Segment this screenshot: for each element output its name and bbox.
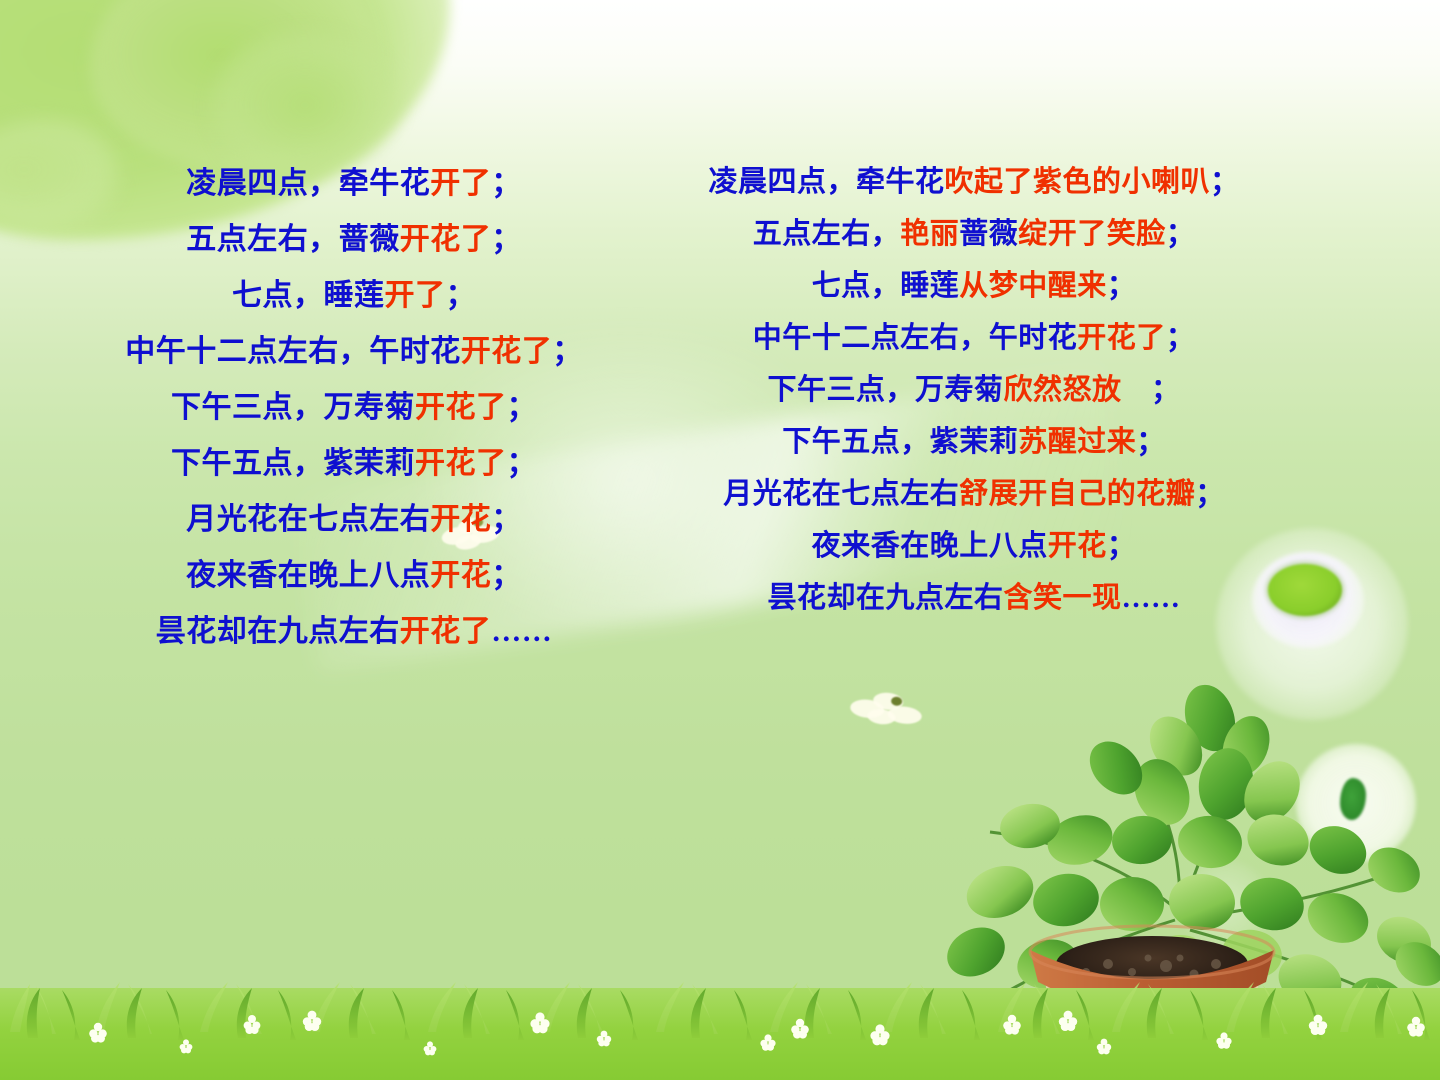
text-columns: 凌晨四点，牵牛花开了；五点左右，蔷薇开花了；七点，睡莲开了；中午十二点左右，午时… <box>0 0 1440 1080</box>
poem-segment-red: 开花 <box>430 503 491 536</box>
poem-segment-blue: 下午三点，万寿菊 <box>171 391 415 424</box>
poem-segment-blue: ； <box>491 503 522 536</box>
poem-segment-red: 开花了 <box>415 447 507 480</box>
poem-segment-blue: ； <box>491 559 522 592</box>
poem-segment-blue: 五点左右，蔷薇 <box>186 223 400 256</box>
poem-segment-red: 开了 <box>385 279 446 312</box>
poem-segment-blue: 下午五点，紫茉莉 <box>171 447 415 480</box>
poem-segment-red: 苏醒过来 <box>1018 426 1136 458</box>
poem-line: 月光花在七点左右舒展开自己的花瓣； <box>656 468 1292 520</box>
poem-line: 七点，睡莲开了； <box>104 268 604 324</box>
poem-segment-blue: ； <box>507 447 538 480</box>
poem-line: 昙花却在九点左右含笑一现…… <box>656 572 1292 624</box>
poem-segment-red: 绽开了笑脸 <box>1018 218 1166 250</box>
poem-line: 中午十二点左右，午时花开花了； <box>656 312 1292 364</box>
poem-segment-blue: …… <box>1122 582 1181 614</box>
poem-segment-red: 开花了 <box>461 335 553 368</box>
poem-segment-blue: 中午十二点左右，午时花 <box>125 335 461 368</box>
poem-segment-blue: 夜来香在晚上八点 <box>186 559 430 592</box>
poem-segment-blue: 凌晨四点，牵牛花 <box>186 167 430 200</box>
poem-segment-blue: ； <box>446 279 477 312</box>
poem-line: 七点，睡莲从梦中醒来； <box>656 260 1292 312</box>
poem-segment-blue: ； <box>1107 530 1137 562</box>
poem-segment-blue: ； <box>552 335 583 368</box>
poem-line: 下午五点，紫茉莉苏醒过来； <box>656 416 1292 468</box>
poem-segment-red: 舒展开自己的花瓣 <box>959 478 1195 510</box>
poem-segment-blue: ； <box>1195 478 1225 510</box>
poem-segment-red: 吹起了紫色的小喇叭 <box>944 166 1210 198</box>
poem-line: 中午十二点左右，午时花开花了； <box>104 324 604 380</box>
poem-line: 下午五点，紫茉莉开花了； <box>104 436 604 492</box>
poem-segment-red: 从梦中醒来 <box>959 270 1107 302</box>
poem-segment-red: 开花 <box>1048 530 1107 562</box>
poem-segment-blue: ； <box>491 167 522 200</box>
poem-line: 月光花在七点左右开花； <box>104 492 604 548</box>
poem-segment-blue: 蔷薇 <box>959 218 1018 250</box>
poem-segment-blue: …… <box>491 615 552 648</box>
poem-segment-blue: ； <box>1107 270 1137 302</box>
poem-segment-red: 开了 <box>430 167 491 200</box>
poem-segment-red: 欣然怒放 <box>1003 374 1121 406</box>
poem-segment-red: 含笑一现 <box>1004 582 1122 614</box>
poem-segment-blue: 月光花在七点左右 <box>723 478 959 510</box>
poem-line: 五点左右，艳丽蔷薇绽开了笑脸； <box>656 208 1292 260</box>
poem-segment-blue: 月光花在七点左右 <box>186 503 430 536</box>
poem-segment-red: 开花了 <box>415 391 507 424</box>
poem-segment-blue: ； <box>1166 218 1196 250</box>
poem-segment-blue: ； <box>1122 374 1181 406</box>
poem-segment-red: 开花了 <box>400 615 492 648</box>
poem-line: 夜来香在晚上八点开花； <box>104 548 604 604</box>
poem-segment-blue: 凌晨四点，牵牛花 <box>708 166 944 198</box>
poem-segment-blue: 昙花却在九点左右 <box>156 615 400 648</box>
poem-segment-blue: ； <box>507 391 538 424</box>
poem-line: 五点左右，蔷薇开花了； <box>104 212 604 268</box>
poem-line: 凌晨四点，牵牛花开了； <box>104 156 604 212</box>
poem-segment-blue: 五点左右， <box>753 218 901 250</box>
left-text-column: 凌晨四点，牵牛花开了；五点左右，蔷薇开花了；七点，睡莲开了；中午十二点左右，午时… <box>104 156 604 660</box>
poem-segment-blue: ； <box>1210 166 1240 198</box>
poem-segment-blue: 下午三点，万寿菊 <box>767 374 1003 406</box>
poem-segment-red: 艳丽 <box>900 218 959 250</box>
slide-canvas: 凌晨四点，牵牛花开了；五点左右，蔷薇开花了；七点，睡莲开了；中午十二点左右，午时… <box>0 0 1440 1080</box>
poem-line: 凌晨四点，牵牛花吹起了紫色的小喇叭； <box>656 156 1292 208</box>
poem-segment-blue: 夜来香在晚上八点 <box>812 530 1048 562</box>
poem-segment-red: 开花 <box>430 559 491 592</box>
poem-segment-blue: 中午十二点左右，午时花 <box>753 322 1078 354</box>
poem-segment-blue: ； <box>1136 426 1166 458</box>
poem-line: 下午三点，万寿菊开花了； <box>104 380 604 436</box>
poem-segment-blue: 七点，睡莲 <box>812 270 960 302</box>
right-text-column: 凌晨四点，牵牛花吹起了紫色的小喇叭；五点左右，艳丽蔷薇绽开了笑脸；七点，睡莲从梦… <box>656 156 1292 624</box>
poem-segment-blue: 下午五点，紫茉莉 <box>782 426 1018 458</box>
poem-segment-red: 开花了 <box>400 223 492 256</box>
poem-line: 昙花却在九点左右开花了…… <box>104 604 604 660</box>
poem-segment-blue: ； <box>491 223 522 256</box>
poem-segment-blue: ； <box>1166 322 1196 354</box>
poem-line: 下午三点，万寿菊欣然怒放 ； <box>656 364 1292 416</box>
poem-segment-blue: 七点，睡莲 <box>232 279 385 312</box>
poem-line: 夜来香在晚上八点开花； <box>656 520 1292 572</box>
poem-segment-red: 开花了 <box>1077 322 1166 354</box>
poem-segment-blue: 昙花却在九点左右 <box>767 582 1003 614</box>
